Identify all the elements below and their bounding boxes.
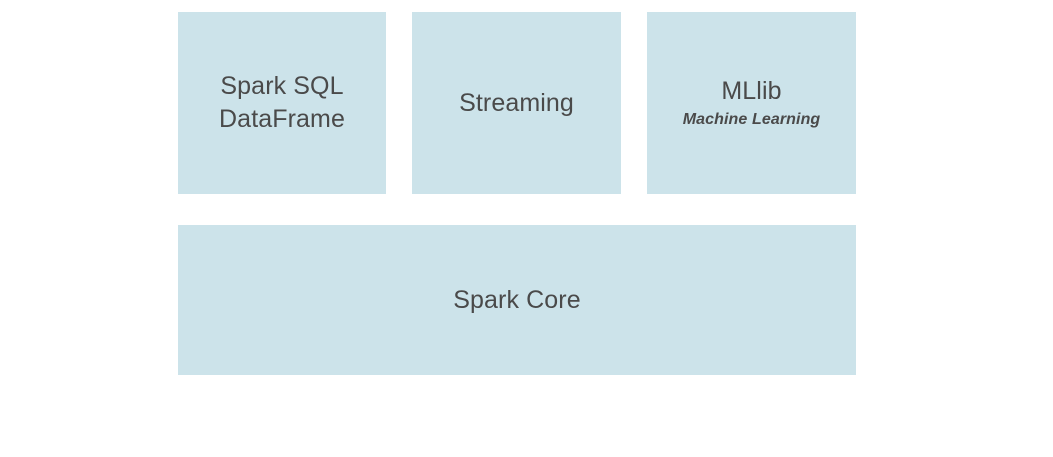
spark-stack-diagram: Spark SQL DataFrame Streaming MLlib Mach… (0, 0, 1053, 457)
diagram-box-streaming[interactable]: Streaming (412, 12, 621, 194)
diagram-box-spark-sql-title: Spark SQL DataFrame (219, 70, 345, 136)
diagram-box-spark-core-title: Spark Core (453, 284, 580, 317)
diagram-box-spark-core[interactable]: Spark Core (178, 225, 856, 375)
diagram-box-mllib-title: MLlib (721, 76, 781, 106)
diagram-box-streaming-title: Streaming (459, 87, 574, 120)
diagram-box-mllib[interactable]: MLlib Machine Learning (647, 12, 856, 194)
diagram-box-mllib-subtitle: Machine Learning (683, 109, 821, 131)
diagram-box-spark-sql[interactable]: Spark SQL DataFrame (178, 12, 386, 194)
